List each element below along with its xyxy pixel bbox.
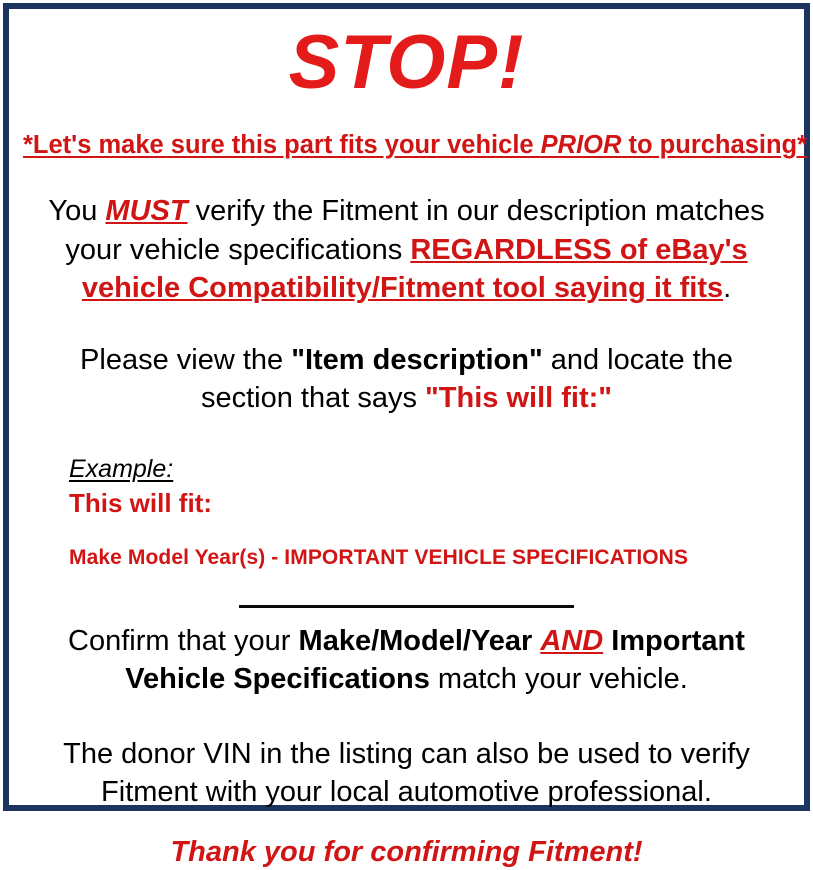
subheading-verify-fitment: *Let's make sure this part fits your veh… [23,131,790,160]
confirm-paragraph: Confirm that your Make/Model/Year AND Im… [23,622,790,699]
view-paragraph-part-one: Please view the [80,344,291,376]
must-emphasis: MUST [105,195,187,227]
view-description-paragraph: Please view the "Item description" and l… [23,341,790,418]
fitment-notice-frame: STOP! *Let's make sure this part fits yo… [0,0,813,814]
example-block: Example: This will fit: Make Model Year(… [23,454,790,570]
confirm-paragraph-part-two: match your vehicle. [430,663,688,695]
donor-vin-paragraph: The donor VIN in the listing can also be… [23,735,790,812]
must-verify-paragraph: You MUST verify the Fitment in our descr… [23,192,790,307]
section-divider-wrap [23,598,790,616]
confirm-paragraph-part-one: Confirm that your [68,625,298,657]
thank-you-message: Thank you for confirming Fitment! [23,835,790,870]
section-divider [239,605,574,608]
stop-heading: STOP! [23,25,790,101]
this-will-fit-quote: "This will fit:" [425,382,612,414]
example-label-row: Example: [69,454,790,484]
example-label: Example: [69,454,173,484]
subheading-tail-text: to purchasing* [621,131,807,159]
must-paragraph-part-one: You [48,195,105,227]
item-description-emphasis: "Item description" [291,344,542,376]
subheading-lead-text: *Let's make sure this part fits your veh… [23,131,541,159]
fitment-notice-panel: STOP! *Let's make sure this part fits yo… [3,3,810,811]
subheading-prior-emphasis: PRIOR [541,131,622,159]
and-emphasis: AND [540,625,603,657]
example-spec-line: Make Model Year(s) - IMPORTANT VEHICLE S… [69,545,790,570]
must-paragraph-period: . [723,272,731,304]
example-fit-heading: This will fit: [69,488,790,519]
make-model-year-emphasis: Make/Model/Year [299,625,533,657]
